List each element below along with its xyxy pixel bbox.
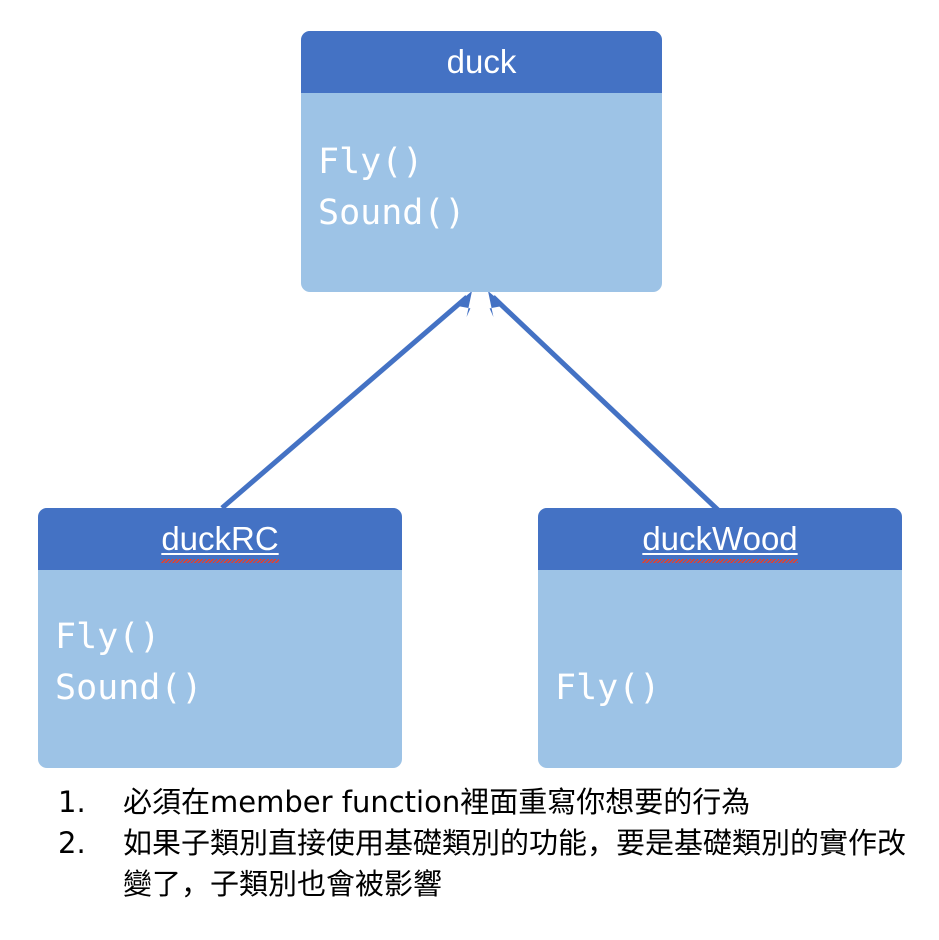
class-header-duckrc: duckRC xyxy=(38,508,402,570)
note-item: 1. 必須在member function裡面重寫你想要的行為 xyxy=(48,782,928,823)
class-methods-duckwood: Fly() xyxy=(555,663,660,714)
class-box-duck[interactable]: duck Fly() Sound() xyxy=(301,31,662,292)
class-title-duckrc-text: duckRC xyxy=(161,520,278,557)
note-number: 2. xyxy=(48,823,123,864)
class-methods-duck: Fly() Sound() xyxy=(318,137,466,239)
class-title-duckrc: duckRC xyxy=(161,522,278,556)
class-box-duckrc[interactable]: duckRC Fly() Sound() xyxy=(38,508,402,768)
class-body-duck: Fly() Sound() xyxy=(301,93,662,292)
notes-list: 1. 必須在member function裡面重寫你想要的行為 2. 如果子類別… xyxy=(48,782,928,905)
class-methods-duckrc: Fly() Sound() xyxy=(55,612,203,714)
class-body-duckwood: Fly() xyxy=(538,570,902,768)
class-title-duckwood-text: duckWood xyxy=(642,520,797,557)
note-text: 必須在member function裡面重寫你想要的行為 xyxy=(123,782,928,823)
spellcheck-squiggle-icon xyxy=(161,559,278,563)
class-header-duckwood: duckWood xyxy=(538,508,902,570)
class-title-duck: duck xyxy=(447,45,517,79)
arrow-duckwood-to-duck xyxy=(485,291,718,510)
note-number: 1. xyxy=(48,782,123,823)
class-box-duckwood[interactable]: duckWood Fly() xyxy=(538,508,902,768)
note-text: 如果子類別直接使用基礎類別的功能，要是基礎類別的實作改變了，子類別也會被影響 xyxy=(123,823,928,905)
arrow-duckrc-to-duck xyxy=(222,291,475,508)
class-header-duck: duck xyxy=(301,31,662,93)
spellcheck-squiggle-icon xyxy=(642,559,797,563)
class-body-duckrc: Fly() Sound() xyxy=(38,570,402,768)
diagram-canvas: duck Fly() Sound() duckRC Fly() Sound() … xyxy=(0,0,939,940)
class-title-duckwood: duckWood xyxy=(642,522,797,556)
note-item: 2. 如果子類別直接使用基礎類別的功能，要是基礎類別的實作改變了，子類別也會被影… xyxy=(48,823,928,905)
